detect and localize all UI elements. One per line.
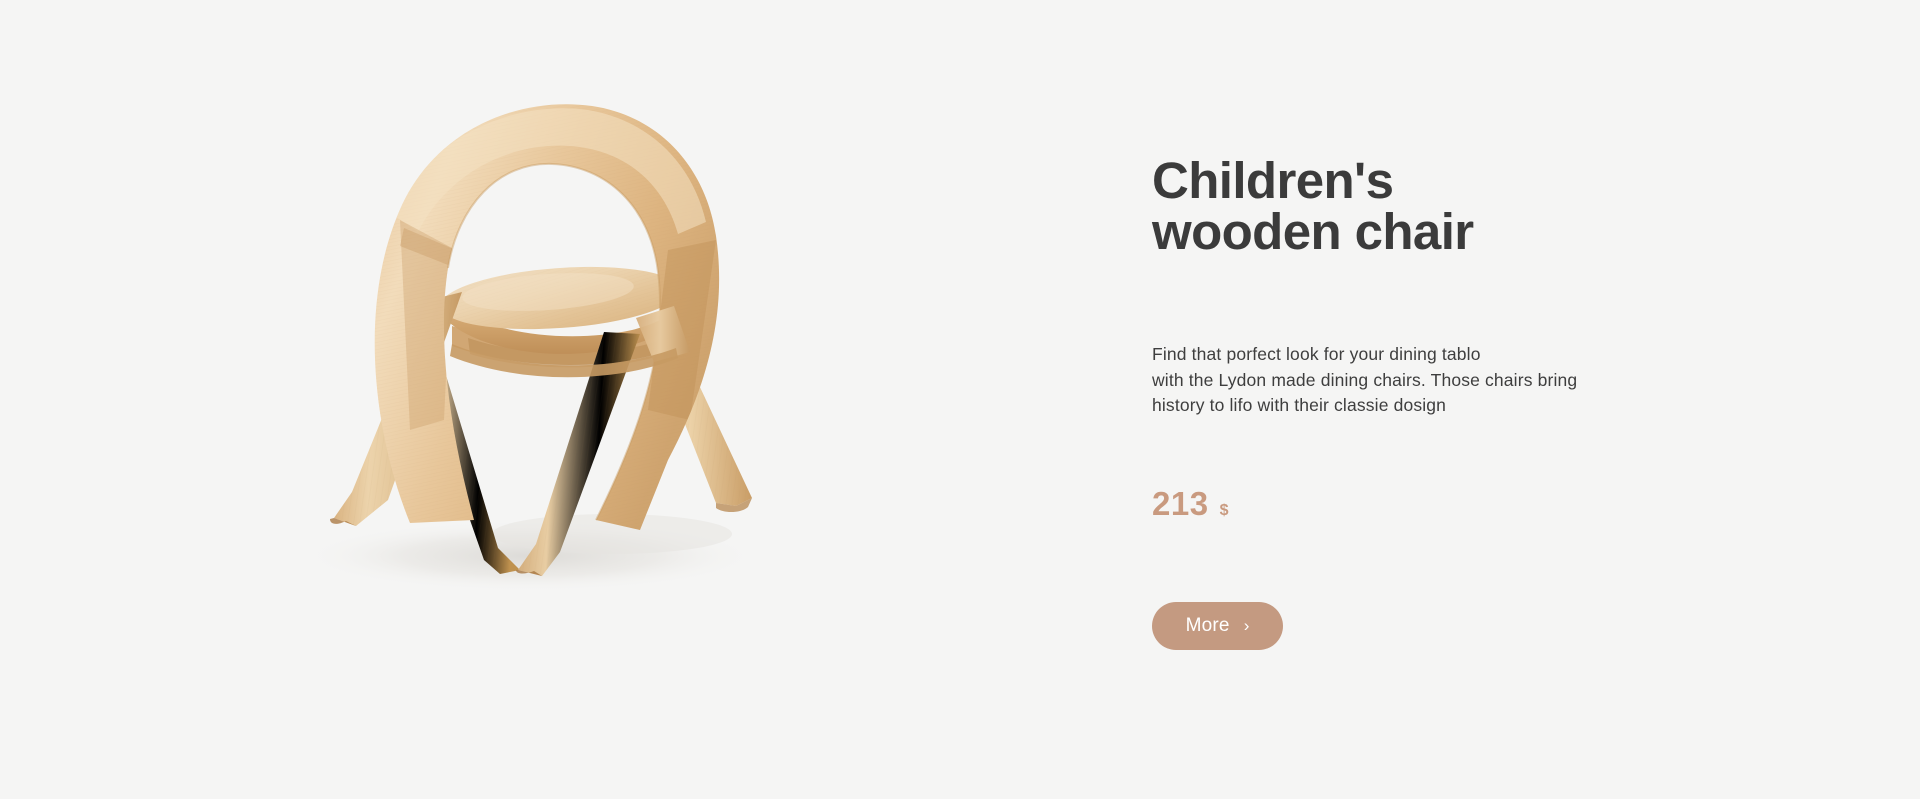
product-image [0, 0, 1060, 799]
chevron-right-icon: › [1244, 617, 1250, 634]
more-button[interactable]: More › [1152, 602, 1283, 650]
price-amount: 213 [1152, 485, 1209, 523]
product-description: Find that porfect look for your dining t… [1152, 342, 1652, 419]
price-currency: $ [1220, 502, 1229, 520]
price-block: 213 $ [1152, 485, 1228, 523]
product-info-panel: Children's wooden chair Find that porfec… [1152, 0, 1852, 799]
product-hero: Children's wooden chair Find that porfec… [0, 0, 1920, 799]
page-title: Children's wooden chair [1152, 155, 1474, 257]
wooden-chair-illustration [0, 0, 1060, 799]
more-button-label: More [1186, 615, 1230, 637]
